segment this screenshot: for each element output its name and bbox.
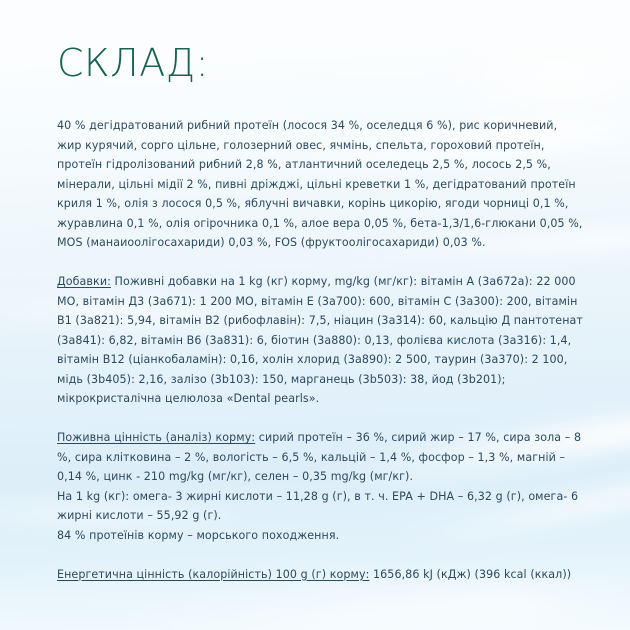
nutrition-paragraph: Поживна цінність (аналіз) корму: сирий п… (57, 428, 585, 487)
composition-paragraph: 40 % дегідратований рибний протеїн (лосо… (57, 116, 585, 253)
additives-text: Поживні добавки на 1 kg (кг) корму, mg/k… (57, 275, 583, 405)
nutrition-heading: Поживна цінність (аналіз) корму: (57, 431, 255, 444)
ingredients-body: 40 % дегідратований рибний протеїн (лосо… (57, 116, 585, 584)
additives-heading: Добавки: (57, 275, 111, 288)
energy-heading: Енергетична цінність (калорійність) 100 … (57, 568, 369, 581)
energy-paragraph: Енергетична цінність (калорійність) 100 … (57, 565, 585, 585)
nutrition-line-2: На 1 kg (кг): омега- 3 жирні кислоти – 1… (57, 487, 585, 526)
ingredients-panel: СКЛАД: 40 % дегідратований рибний протеї… (0, 0, 630, 630)
energy-text: 1656,86 kJ (кДж) (396 kcal (ккал)) (369, 568, 571, 581)
page-title: СКЛАД: (57, 44, 209, 82)
additives-paragraph: Добавки: Поживні добавки на 1 kg (кг) ко… (57, 272, 585, 409)
nutrition-line-3: 84 % протеїнів корму – морського походже… (57, 526, 585, 546)
content-area: СКЛАД: 40 % дегідратований рибний протеї… (0, 0, 630, 630)
